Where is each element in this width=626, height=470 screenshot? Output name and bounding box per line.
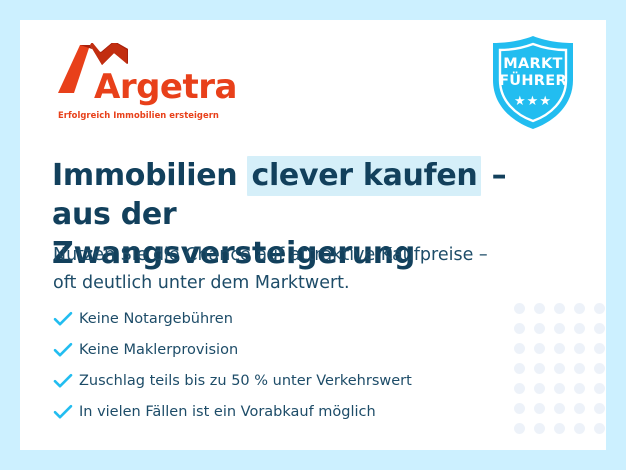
check-icon: [53, 370, 79, 392]
market-leader-badge: MARKT FÜHRER ★★★: [488, 34, 578, 131]
decorative-dot: [554, 363, 565, 374]
badge-line-1: MARKT: [488, 56, 578, 73]
benefit-list: Keine NotargebührenKeine Maklerprovision…: [53, 303, 503, 427]
decorative-dot: [594, 323, 605, 334]
decorative-dot: [594, 343, 605, 354]
decorative-dot: [574, 363, 585, 374]
list-item-label: Keine Notargebühren: [79, 310, 233, 328]
logo-tagline: Erfolgreich Immobilien ersteigern: [58, 110, 219, 120]
decorative-dot: [574, 343, 585, 354]
decorative-dot: [594, 363, 605, 374]
decorative-dot: [534, 343, 545, 354]
check-icon: [53, 339, 79, 361]
decorative-dot: [594, 423, 605, 434]
argetra-logo[interactable]: Argetra Erfolgreich Immobilien ersteiger…: [56, 43, 206, 123]
decorative-dot: [514, 423, 525, 434]
promo-card: Argetra Erfolgreich Immobilien ersteiger…: [20, 20, 606, 450]
subtitle-line-2: oft deutlich unter dem Marktwert.: [53, 273, 350, 293]
decorative-dot: [514, 323, 525, 334]
decorative-dot: [554, 383, 565, 394]
dot-grid-decoration: [514, 303, 606, 450]
decorative-dot: [514, 403, 525, 414]
decorative-dot: [554, 323, 565, 334]
list-item: Zuschlag teils bis zu 50 % unter Verkehr…: [53, 365, 503, 396]
decorative-dot: [534, 323, 545, 334]
headline-part-1: Immobilien: [52, 158, 247, 193]
decorative-dot: [514, 363, 525, 374]
decorative-dot: [594, 403, 605, 414]
list-item-label: In vielen Fällen ist ein Vorabkauf mögli…: [79, 403, 376, 421]
check-icon: [53, 308, 79, 330]
decorative-dot: [554, 343, 565, 354]
headline-highlight: clever kaufen: [247, 156, 481, 196]
list-item-label: Zuschlag teils bis zu 50 % unter Verkehr…: [79, 372, 412, 390]
check-icon: [53, 401, 79, 423]
decorative-dot: [534, 383, 545, 394]
decorative-dot: [594, 383, 605, 394]
subtitle: Nutzen Sie die Chance auf attraktive Kau…: [53, 241, 553, 297]
decorative-dot: [574, 403, 585, 414]
decorative-dot: [514, 303, 525, 314]
badge-text: MARKT FÜHRER: [488, 56, 578, 89]
decorative-dot: [554, 303, 565, 314]
list-item: Keine Maklerprovision: [53, 334, 503, 365]
badge-stars: ★★★: [488, 94, 578, 107]
list-item: In vielen Fällen ist ein Vorabkauf mögli…: [53, 396, 503, 427]
subtitle-line-1: Nutzen Sie die Chance auf attraktive Kau…: [53, 245, 488, 265]
decorative-dot: [574, 383, 585, 394]
decorative-dot: [514, 343, 525, 354]
decorative-dot: [574, 423, 585, 434]
decorative-dot: [554, 423, 565, 434]
decorative-dot: [534, 363, 545, 374]
list-item: Keine Notargebühren: [53, 303, 503, 334]
decorative-dot: [574, 303, 585, 314]
decorative-dot: [554, 403, 565, 414]
list-item-label: Keine Maklerprovision: [79, 341, 238, 359]
badge-line-2: FÜHRER: [488, 73, 578, 90]
decorative-dot: [514, 383, 525, 394]
decorative-dot: [594, 303, 605, 314]
decorative-dot: [574, 323, 585, 334]
decorative-dot: [534, 303, 545, 314]
decorative-dot: [534, 403, 545, 414]
logo-wordmark: Argetra: [94, 70, 237, 104]
headline-part-2: –: [481, 158, 506, 193]
decorative-dot: [534, 423, 545, 434]
